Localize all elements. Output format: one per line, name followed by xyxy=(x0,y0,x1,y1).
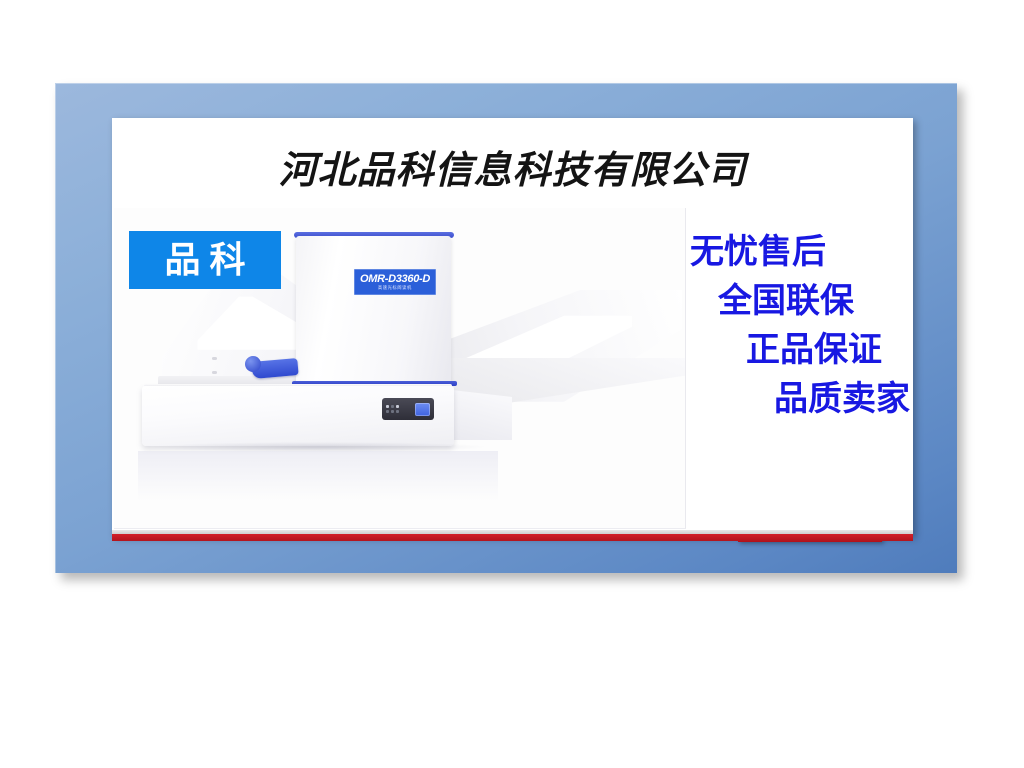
scanner-lever-knob xyxy=(245,356,261,372)
scanner-model-badge: OMR-D3360-D 高速光标阅读机 xyxy=(354,269,436,295)
slogan-list: 无忧售后 全国联保 正品保证 品质卖家 xyxy=(690,228,950,424)
slogan-line-1: 无忧售后 xyxy=(690,228,950,277)
status-led-icon xyxy=(391,410,394,413)
scanner-power-button xyxy=(415,403,430,416)
scanner-control-panel xyxy=(382,398,434,420)
slide-canvas: 河北品科信息科技有限公司 OMR-D3360-D 高速光标阅读机 xyxy=(0,0,1024,768)
led-row xyxy=(386,405,410,408)
scanner-model-label: OMR-D3360-D xyxy=(360,273,430,285)
slogan-line-2: 全国联保 xyxy=(690,277,950,326)
scanner-base-right xyxy=(452,390,512,440)
brand-logo-text: 品科 xyxy=(155,240,254,280)
slogan-line-3: 正品保证 xyxy=(690,326,950,375)
scanner-body xyxy=(296,236,451,384)
status-led-icon xyxy=(396,410,399,413)
status-led-icon xyxy=(386,410,389,413)
scanner-model-sublabel: 高速光标阅读机 xyxy=(378,285,412,291)
brand-logo-badge: 品科 xyxy=(129,231,281,289)
led-row xyxy=(386,410,410,413)
scanner-screw xyxy=(212,371,217,374)
card-red-strip xyxy=(112,534,913,541)
slogan-line-4: 品质卖家 xyxy=(690,375,950,424)
photo-reflection xyxy=(138,451,498,501)
status-led-icon xyxy=(386,405,389,408)
scanner-screw xyxy=(212,357,217,360)
company-title: 河北品科信息科技有限公司 xyxy=(112,148,913,194)
scanner-indicator-leds xyxy=(386,405,410,413)
status-led-icon xyxy=(396,405,399,408)
status-led-icon xyxy=(391,405,394,408)
